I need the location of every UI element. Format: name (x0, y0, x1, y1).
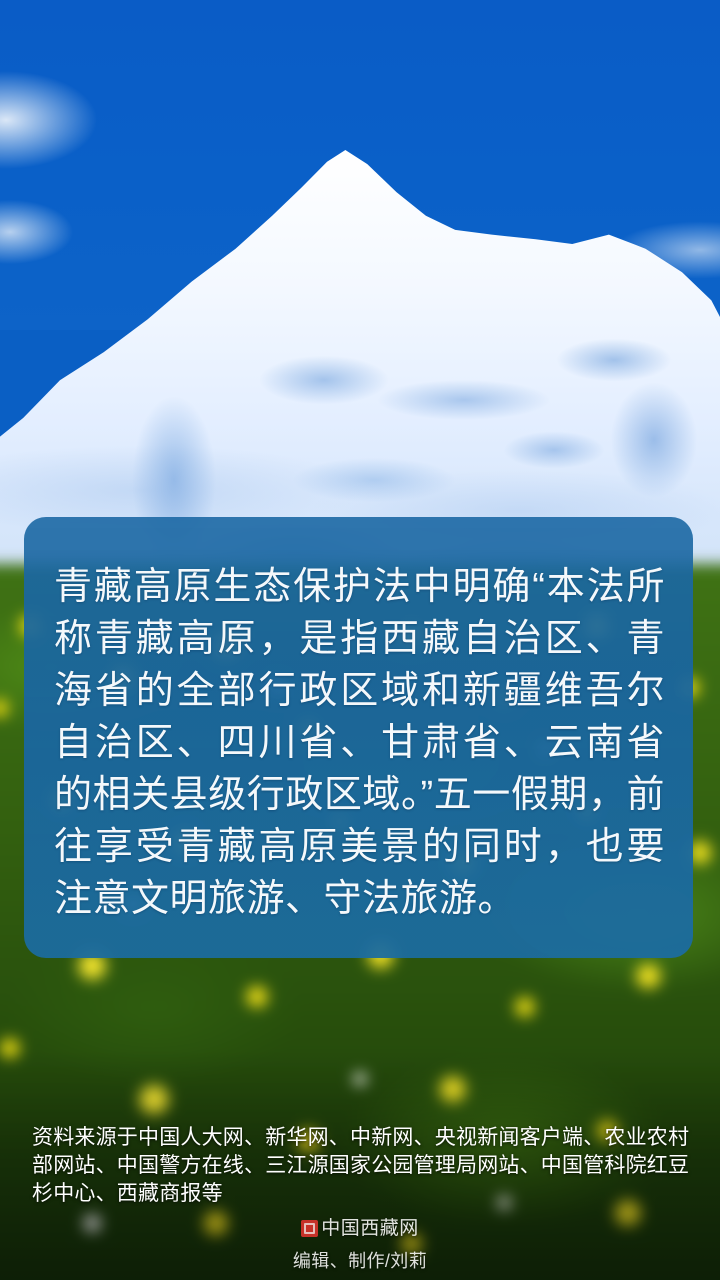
poster-root: 青藏高原生态保护法中明确“本法所称青藏高原，是指西藏自治区、青海省的全部行政区域… (0, 0, 720, 1280)
info-card: 青藏高原生态保护法中明确“本法所称青藏高原，是指西藏自治区、青海省的全部行政区域… (24, 517, 693, 958)
card-body-text: 青藏高原生态保护法中明确“本法所称青藏高原，是指西藏自治区、青海省的全部行政区域… (54, 561, 665, 925)
source-attribution: 资料来源于中国人大网、新华网、中新网、央视新闻客户端、农业农村部网站、中国警方在… (32, 1124, 692, 1208)
